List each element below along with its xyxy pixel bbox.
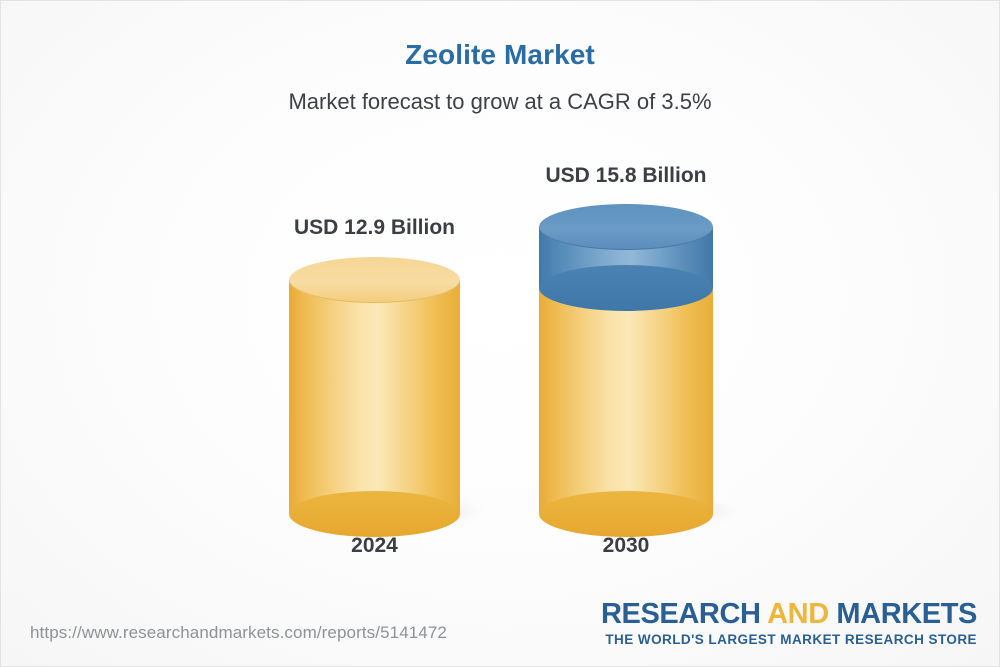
bar-cylinder-2024 <box>289 257 460 514</box>
cylinder-bottom-cap <box>289 491 460 537</box>
chart-canvas: Zeolite Market Market forecast to grow a… <box>0 0 1000 667</box>
cylinder-bottom-cap <box>539 265 713 311</box>
bar-cylinder-2030 <box>539 204 713 514</box>
cylinder-top-cap <box>539 204 713 250</box>
logo-word-and: AND <box>767 598 829 630</box>
bar-segment-base-2024 <box>289 280 460 514</box>
logo-word-markets: MARKETS <box>829 598 977 630</box>
page-title: Zeolite Market <box>1 39 999 71</box>
logo-word-research: RESEARCH <box>601 598 767 630</box>
logo-tagline: THE WORLD'S LARGEST MARKET RESEARCH STOR… <box>601 632 977 647</box>
cylinder-body <box>539 288 713 514</box>
bar-segment-base-2030 <box>539 288 713 514</box>
brand-logo: RESEARCH AND MARKETS THE WORLD'S LARGEST… <box>601 599 977 647</box>
cylinder-body <box>289 280 460 514</box>
bar-value-label-2024: USD 12.9 Billion <box>289 216 460 240</box>
chart-subtitle: Market forecast to grow at a CAGR of 3.5… <box>1 89 999 115</box>
bar-segment-growth-2030 <box>539 227 713 288</box>
cylinder-top-cap <box>289 257 460 303</box>
logo-wordmark: RESEARCH AND MARKETS <box>601 599 977 629</box>
bar-value-label-2030: USD 15.8 Billion <box>539 164 713 188</box>
bar-category-label-2024: 2024 <box>289 534 460 558</box>
bar-category-label-2030: 2030 <box>539 534 713 558</box>
source-url: https://www.researchandmarkets.com/repor… <box>30 623 447 643</box>
cylinder-bottom-cap <box>539 491 713 537</box>
